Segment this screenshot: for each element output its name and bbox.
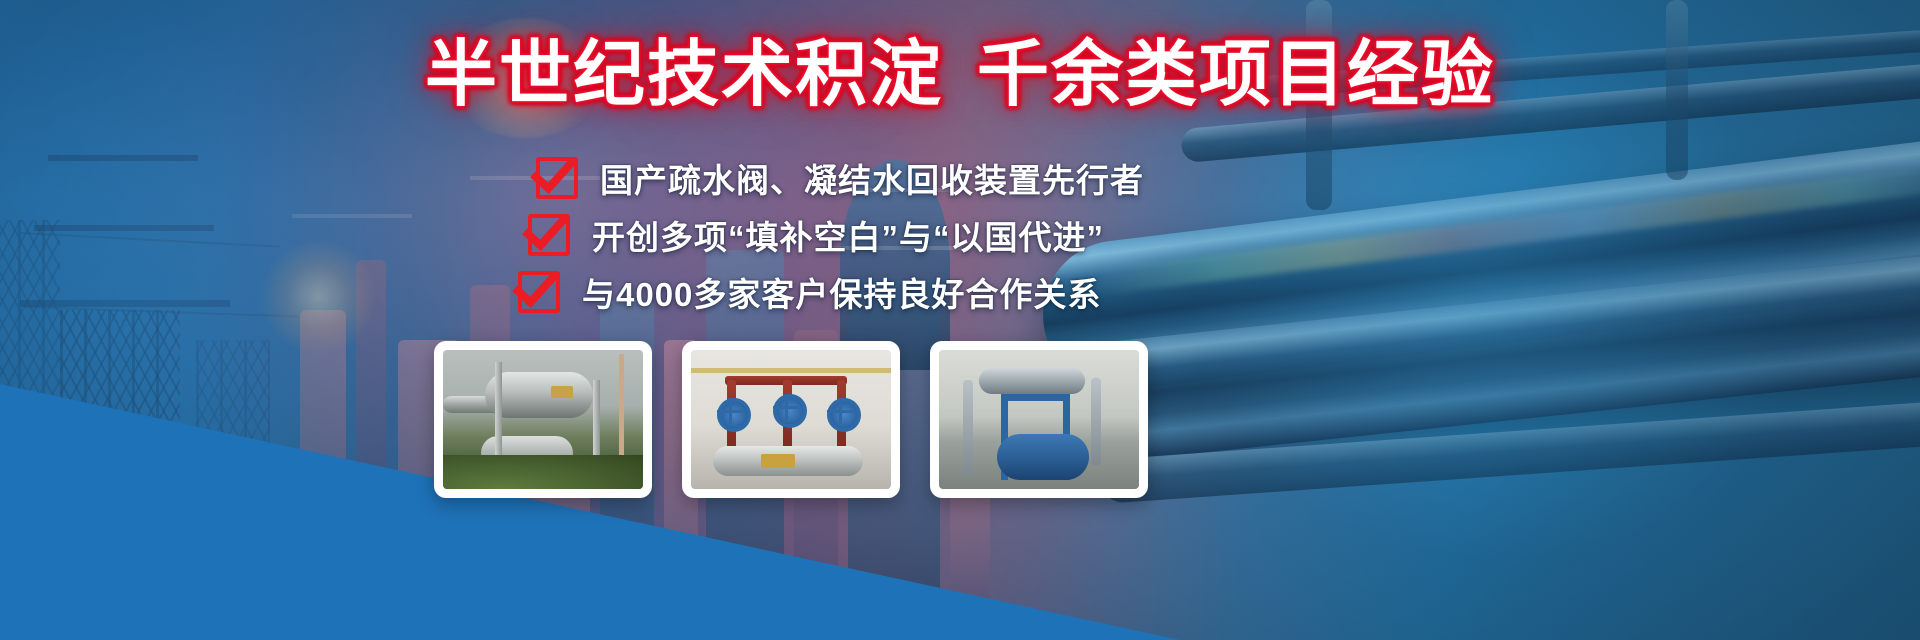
photo-nameplate [551,386,573,398]
photo-vessel [979,368,1085,394]
photo-wall-stripe [691,368,891,373]
photo-card[interactable] [682,341,900,498]
photo-handwheel-valve [827,398,861,432]
photo-pipe [963,380,973,476]
product-photo-1 [443,350,643,489]
list-item: 与4000多家客户保持良好合作关系 [518,264,1144,320]
photo-card[interactable] [930,341,1148,498]
page-title: 半世纪技术积淀千余类项目经验 [0,38,1920,114]
list-item: 开创多项“填补空白”与“以国代进” [528,207,1144,263]
photo-card[interactable] [434,341,652,498]
photo-vessel-blue [997,434,1089,480]
checkbox-checked-icon [528,214,570,256]
product-photo-2 [691,350,891,489]
checkbox-checked-icon [536,157,578,199]
product-photo-3 [939,350,1139,489]
list-item-label: 与4000多家客户保持良好合作关系 [582,268,1101,316]
photo-ground [443,455,643,489]
checkbox-checked-icon [518,271,560,313]
list-item-label: 国产疏水阀、凝结水回收装置先行者 [600,154,1144,202]
promo-banner: 半世纪技术积淀千余类项目经验 国产疏水阀、凝结水回收装置先行者 开创多项“填补空… [0,0,1920,640]
photo-nameplate [761,454,795,468]
photo-pipe [1091,378,1101,466]
headline-part-2: 千余类项目经验 [977,35,1495,115]
list-item-label: 开创多项“填补空白”与“以国代进” [592,211,1104,259]
list-item: 国产疏水阀、凝结水回收装置先行者 [536,150,1144,206]
photo-blue-frame [1001,394,1070,401]
photo-handwheel-valve [773,394,807,428]
photo-gallery [434,341,1148,498]
photo-handwheel-valve [717,398,751,432]
headline-part-1: 半世纪技术积淀 [425,35,943,115]
feature-list: 国产疏水阀、凝结水回收装置先行者 开创多项“填补空白”与“以国代进” 与4000… [518,150,1144,321]
